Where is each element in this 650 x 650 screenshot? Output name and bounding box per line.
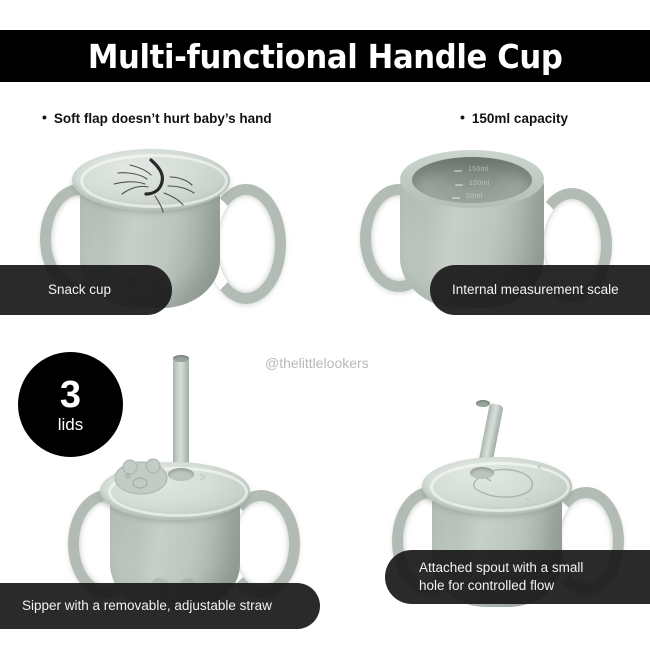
feature-bullet-label: 150ml capacity [472, 111, 568, 126]
bullet-dot-icon: • [460, 109, 465, 125]
caption-label: Internal measurement scale [452, 281, 619, 299]
title-banner: Multi-functional Handle Cup [0, 30, 650, 82]
scale-dash-100 [455, 184, 463, 186]
feature-bullet-capacity: •150ml capacity [460, 109, 568, 126]
feature-bullet-label: Soft flap doesn’t hurt baby’s hand [54, 111, 272, 126]
scale-label-50: 50ml [466, 193, 482, 200]
caption-label: Sipper with a removable, adjustable stra… [22, 597, 272, 615]
caption-pill-measurement-scale: Internal measurement scale [430, 265, 650, 315]
scale-label-100: 100ml [469, 180, 490, 187]
lids-count-badge: 3 lids [18, 352, 123, 457]
bullet-dot-icon: • [42, 109, 47, 125]
lids-count-value: 3 [60, 376, 81, 414]
caption-label: Snack cup [48, 281, 111, 299]
page-title: Multi-functional Handle Cup [88, 37, 563, 76]
feature-bullet-soft-flap: •Soft flap doesn’t hurt baby’s hand [42, 109, 272, 126]
caption-pill-sipper-straw: Sipper with a removable, adjustable stra… [0, 583, 320, 629]
brand-watermark: @thelittlelookers [265, 355, 369, 371]
caption-pill-snack-cup: Snack cup [0, 265, 172, 315]
straw-collar [168, 468, 194, 481]
lids-count-unit: lids [58, 416, 84, 433]
caption-label: Attached spout with a small hole for con… [419, 559, 583, 595]
scale-dash-150 [454, 170, 462, 172]
caption-pill-spout-lid: Attached spout with a small hole for con… [385, 550, 650, 604]
straw-collar [470, 467, 494, 479]
scale-dash-50 [452, 197, 460, 199]
scale-label-150: 150ml [468, 166, 489, 173]
